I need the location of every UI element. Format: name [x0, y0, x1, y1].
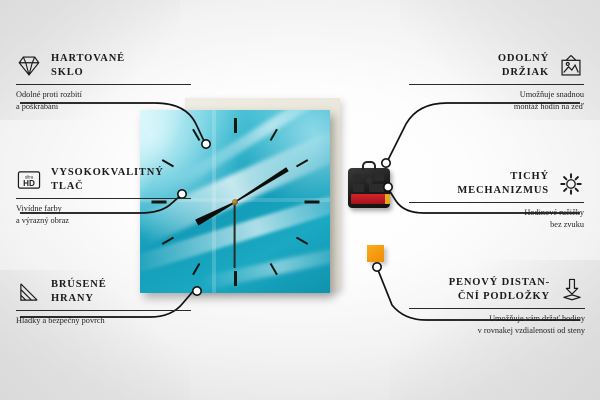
feature-head: PENOVÝ DISTAN- ČNÍ PODLOŽKY	[409, 276, 585, 304]
feature-high-quality-print: ultra HD VYSOKOKVALITNÝ TLAČ Vivídne far…	[16, 166, 191, 226]
feature-description: Umožňuje vám držať hodiny v rovnakej vzd…	[409, 313, 585, 337]
feature-head: ultra HD VYSOKOKVALITNÝ TLAČ	[16, 166, 191, 194]
feature-title-line1: BRÚSENÉ	[51, 279, 107, 290]
feature-description: Vivídne farby a výrazný obraz	[16, 203, 191, 227]
feature-description: Odolné proti rozbití a poškrábání	[16, 89, 191, 113]
feature-durable-holder: ODOLNÝ DRŽIAK Umožňuje snadnou montáž ho…	[409, 52, 584, 112]
feature-tempered-glass: HARTOVANÉ SKLO Odolné proti rozbití a po…	[16, 52, 191, 112]
feature-ground-edges: BRÚSENÉ HRANY Hladký a bezpečný povrch	[16, 278, 191, 327]
feature-desc-line2: bez zvuku	[550, 220, 584, 229]
wall-frame-icon	[558, 53, 584, 79]
ultra-hd-icon: ultra HD	[16, 167, 42, 193]
feature-title-line1: TICHÝ	[510, 171, 549, 182]
connector-node-holder	[382, 159, 390, 167]
feature-divider	[16, 84, 191, 85]
spacer-arrow-icon	[559, 277, 585, 303]
connector-node-tempered-glass	[202, 140, 210, 148]
feature-divider	[16, 198, 191, 199]
ultra-hd-icon-big-label: HD	[23, 179, 35, 188]
feature-desc-line1: Umožňuje snadnou	[520, 90, 584, 99]
feature-description: Hodinové ručičky bez zvuku	[409, 207, 584, 231]
feature-title-line2: TLAČ	[51, 181, 84, 192]
feature-title: TICHÝ MECHANIZMUS	[457, 170, 549, 198]
diamond-icon	[16, 53, 42, 79]
feature-desc-line1: Hladký a bezpečný povrch	[16, 316, 105, 325]
feature-desc-line1: Hodinové ručičky	[524, 208, 584, 217]
feature-divider	[409, 308, 585, 309]
ground-edges-icon	[16, 279, 42, 305]
feature-desc-line2: a výrazný obraz	[16, 216, 69, 225]
feature-desc-line1: Vivídne farby	[16, 204, 62, 213]
feature-description: Umožňuje snadnou montáž hodin na zeď	[409, 89, 584, 113]
feature-title: VYSOKOKVALITNÝ TLAČ	[51, 166, 164, 194]
feature-head: ODOLNÝ DRŽIAK	[409, 52, 584, 80]
feature-desc-line1: Umožňuje vám držať hodiny	[489, 314, 585, 323]
feature-title-line2: MECHANIZMUS	[457, 185, 549, 196]
connector-node-spacers	[373, 263, 381, 271]
feature-title: BRÚSENÉ HRANY	[51, 278, 107, 306]
feature-title: ODOLNÝ DRŽIAK	[498, 52, 549, 80]
feature-description: Hladký a bezpečný povrch	[16, 315, 191, 327]
feature-silent-mechanism: TICHÝ MECHANIZMUS Hodinové ručičky bez z…	[409, 170, 584, 230]
feature-divider	[409, 202, 584, 203]
feature-desc-line2: a poškrábání	[16, 102, 58, 111]
feature-title-line1: PENOVÝ DISTAN-	[449, 277, 550, 288]
feature-desc-line1: Odolné proti rozbití	[16, 90, 82, 99]
feature-divider	[16, 310, 191, 311]
feature-divider	[409, 84, 584, 85]
feature-desc-line2: montáž hodin na zeď	[514, 102, 584, 111]
feature-title-line2: ČNÍ PODLOŽKY	[458, 291, 550, 302]
connector-node-edges	[193, 287, 201, 295]
feature-title-line1: VYSOKOKVALITNÝ	[51, 167, 164, 178]
gear-icon	[558, 171, 584, 197]
feature-head: TICHÝ MECHANIZMUS	[409, 170, 584, 198]
feature-title-line2: SKLO	[51, 67, 84, 78]
feature-title-line1: HARTOVANÉ	[51, 53, 125, 64]
feature-head: BRÚSENÉ HRANY	[16, 278, 191, 306]
feature-desc-line2: v rovnakej vzdialenosti od steny	[478, 326, 585, 335]
infographic-stage: HARTOVANÉ SKLO Odolné proti rozbití a po…	[0, 0, 600, 400]
feature-title-line2: HRANY	[51, 293, 94, 304]
feature-head: HARTOVANÉ SKLO	[16, 52, 191, 80]
feature-title: HARTOVANÉ SKLO	[51, 52, 125, 80]
feature-title-line1: ODOLNÝ	[498, 53, 549, 64]
feature-foam-spacers: PENOVÝ DISTAN- ČNÍ PODLOŽKY Umožňuje vám…	[409, 276, 585, 336]
feature-title-line2: DRŽIAK	[502, 67, 549, 78]
feature-title: PENOVÝ DISTAN- ČNÍ PODLOŽKY	[449, 276, 550, 304]
connector-node-mechanism	[384, 183, 392, 191]
